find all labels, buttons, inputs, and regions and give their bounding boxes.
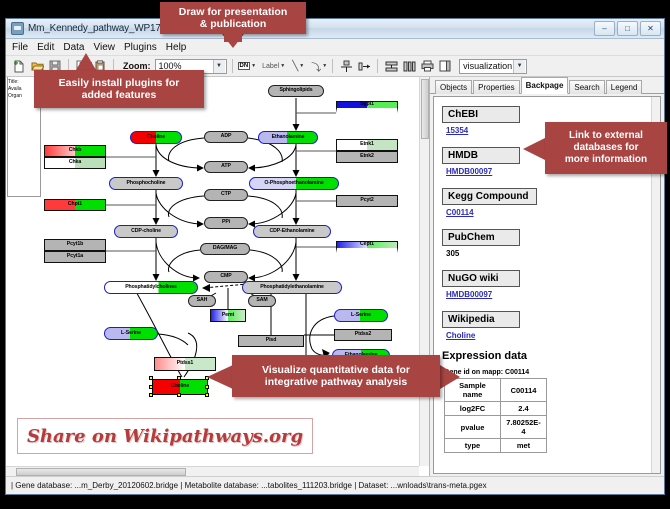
menu-file[interactable]: File: [12, 42, 28, 53]
tab-objects[interactable]: Objects: [435, 80, 472, 94]
gene-etnk1[interactable]: Etnk1: [336, 139, 398, 151]
node-sphingolipids[interactable]: Sphingolipids: [268, 85, 324, 97]
chevron-down-icon[interactable]: ▼: [513, 60, 525, 73]
scrollbar-thumb[interactable]: [421, 79, 429, 139]
callout-visualize-data: Visualize quantitative data for integrat…: [232, 355, 440, 397]
chevron-down-icon[interactable]: ▼: [280, 63, 285, 69]
node-label: ADP: [221, 134, 232, 139]
callout-external-links: Link to external databases for more info…: [545, 122, 667, 174]
node-sam[interactable]: SAM: [248, 295, 276, 307]
label-tool-text: Label: [262, 63, 279, 70]
backpage-link-kegg[interactable]: C00114: [446, 208, 660, 217]
visualization-value: visualization: [463, 61, 513, 71]
selection-handle-nw[interactable]: [149, 376, 153, 380]
callout-link-line1: Link to external: [569, 130, 643, 142]
toolbar-separator-3: [232, 59, 233, 73]
node-label: Pcyt1b: [67, 242, 83, 247]
node-phosphocholine[interactable]: Phosphocholine: [109, 177, 183, 190]
callout-draw-arrow-stem: [224, 34, 242, 42]
tab-legend[interactable]: Legend: [606, 80, 643, 94]
gene-pcyt1a[interactable]: Pcyt1a: [44, 251, 106, 263]
gene-pemt[interactable]: Pemt: [210, 309, 246, 322]
gene-ptdss2[interactable]: Ptdss2: [334, 329, 392, 341]
shape-tool[interactable]: ⤵ ▼: [311, 59, 327, 74]
backpage-value-pubchem: 305: [446, 249, 660, 258]
callout-plugins-line2: added features: [82, 89, 157, 101]
scrollbar-thumb[interactable]: [16, 468, 186, 476]
node-label: Pisd: [266, 338, 277, 343]
app-logo-icon: [11, 22, 24, 35]
node-label: Ptdss2: [355, 332, 371, 337]
gene-pisd[interactable]: Pisd: [238, 335, 304, 347]
menu-bar: File Edit Data View Plugins Help: [6, 39, 664, 56]
node-l-serine-left[interactable]: L-Serine: [104, 327, 158, 340]
new-file-icon[interactable]: [11, 58, 27, 74]
node-label: Cept1: [360, 242, 374, 247]
node-label: Choline: [147, 135, 165, 140]
callout-draw-line1: Draw for presentation: [179, 6, 288, 18]
menu-data[interactable]: Data: [63, 42, 84, 53]
table-cell-value: 7.80252E-4: [501, 416, 547, 439]
selection-handle-s[interactable]: [177, 393, 181, 397]
minimize-button[interactable]: –: [594, 21, 615, 36]
backpage-head-chebi: ChEBI: [442, 106, 520, 123]
expression-data-table: Sample name C00114 log2FC 2.4 pvalue 7.8…: [444, 378, 547, 453]
node-o-phosphoethanolamine[interactable]: O-Phosphoethanolamine: [249, 177, 339, 190]
callout-link-line2: databases for: [573, 142, 638, 154]
backpage-head-nugo: NuGO wiki: [442, 270, 520, 287]
callout-visualize-arrow-right-icon: [440, 365, 460, 389]
node-label: Choline: [171, 384, 189, 389]
node-label: Ethanolamine: [272, 135, 305, 140]
node-label: ATP: [221, 164, 231, 169]
node-label: Phosphocholine: [127, 181, 166, 186]
node-label: Pcyt2: [360, 198, 373, 203]
visualization-combo[interactable]: visualization ▼: [459, 59, 527, 74]
node-sah[interactable]: SAH: [188, 295, 216, 307]
toolbar-separator-4: [332, 59, 333, 73]
backpage-head-kegg: Kegg Compound: [442, 188, 537, 205]
chevron-down-icon[interactable]: ▼: [251, 63, 256, 69]
close-button[interactable]: ✕: [640, 21, 661, 36]
node-phosphatidylcholines[interactable]: Phosphatidylcholines: [104, 281, 198, 294]
side-panel-tabs: Objects Properties Backpage Search Legen…: [430, 77, 664, 94]
node-phosphatidylethanolamine[interactable]: Phosphatidylethanolamine: [242, 281, 342, 294]
node-label: O-Phosphoethanolamine: [264, 181, 323, 186]
callout-plugins-line1: Easily install plugins for: [59, 77, 180, 89]
node-label: CDP-choline: [131, 229, 161, 234]
line-tool[interactable]: ╲ ▼: [292, 61, 304, 72]
callout-visualize-line2: integrative pathway analysis: [265, 376, 407, 388]
callout-draw-for-publication: Draw for presentation & publication: [160, 2, 306, 34]
share-banner: Share on Wikipathways.org: [17, 418, 313, 454]
group-icon[interactable]: [356, 58, 372, 74]
node-cdp-ethanolamine[interactable]: CDP-Ethanolamine: [253, 225, 331, 238]
gene-chpt1[interactable]: Chpt1: [44, 199, 106, 211]
menu-view[interactable]: View: [93, 42, 115, 53]
align-icon[interactable]: [338, 58, 354, 74]
table-cell-value: C00114: [501, 379, 547, 402]
maximize-button[interactable]: □: [617, 21, 638, 36]
callout-draw-line2: & publication: [200, 18, 267, 30]
window-buttons: – □ ✕: [594, 21, 661, 36]
gene-pcyt1b[interactable]: Pcyt1b: [44, 239, 106, 251]
selection-handle-w[interactable]: [149, 385, 153, 389]
order-icon[interactable]: [383, 58, 399, 74]
selection-handle-n[interactable]: [177, 376, 181, 380]
line-icon: ╲: [292, 61, 298, 72]
node-label: SAH: [197, 298, 208, 303]
node-cmp[interactable]: CMP: [204, 271, 248, 283]
node-label: Etnk1: [360, 142, 374, 147]
datanode-icon: DN: [238, 62, 251, 70]
menu-help[interactable]: Help: [166, 42, 187, 53]
node-label: L-Serine: [351, 313, 371, 318]
gene-sgpl1[interactable]: Sgpl1: [336, 101, 398, 113]
backpage-head-hmdb: HMDB: [442, 147, 520, 164]
chevron-down-icon[interactable]: ▼: [322, 63, 327, 69]
table-row: log2FC 2.4: [445, 402, 547, 416]
title-bar: Mm_Kennedy_pathway_WP1771_45176.gpml – □…: [6, 19, 664, 39]
node-l-serine-right[interactable]: L-Serine: [334, 309, 388, 322]
status-text: | Gene database: ...m_Derby_20120602.bri…: [11, 481, 487, 490]
toolbar-separator-5: [377, 59, 378, 73]
callout-visualize-line1: Visualize quantitative data for: [262, 364, 410, 376]
tab-properties[interactable]: Properties: [473, 80, 519, 94]
node-label: Ptdss1: [177, 361, 193, 366]
node-label: Chpt1: [68, 202, 82, 207]
node-label: Phosphatidylcholines: [125, 285, 177, 290]
backpage-head-wikipedia: Wikipedia: [442, 311, 520, 328]
gene-id-on-mapp: Gene id on mapp: C00114: [444, 369, 660, 376]
node-label: CMP: [220, 274, 231, 279]
node-label: PPi: [222, 220, 230, 225]
print-icon[interactable]: [419, 58, 435, 74]
node-label: CDP-Ethanolamine: [269, 229, 314, 234]
menu-edit[interactable]: Edit: [37, 42, 54, 53]
canvas-vertical-scrollbar[interactable]: [419, 77, 429, 466]
share-banner-text: Share on Wikipathways.org: [27, 426, 303, 447]
table-cell-key: log2FC: [445, 402, 501, 416]
gene-cept1[interactable]: Cept1: [336, 241, 398, 253]
gene-etnk2[interactable]: Etnk2: [336, 151, 398, 163]
node-dag-mag[interactable]: DAG/MAG: [200, 243, 250, 255]
tab-backpage[interactable]: Backpage: [521, 77, 569, 94]
backpage-head-pubchem: PubChem: [442, 229, 520, 246]
node-label: Etnk2: [360, 154, 374, 159]
tab-search[interactable]: Search: [569, 80, 604, 94]
table-row: type met: [445, 439, 547, 453]
selection-handle-se[interactable]: [205, 393, 209, 397]
chevron-down-icon[interactable]: ▼: [299, 63, 304, 69]
node-ppi[interactable]: PPi: [204, 217, 248, 229]
node-label: DAG/MAG: [213, 246, 237, 251]
node-label: Sgpl1: [360, 102, 374, 107]
node-label: SAM: [256, 298, 267, 303]
node-label: Sphingolipids: [280, 88, 313, 93]
node-label: Pemt: [222, 313, 234, 318]
node-label: L-Serine: [121, 331, 141, 336]
node-label: Chka: [69, 160, 81, 165]
label-tool[interactable]: Label ▼: [262, 63, 285, 70]
datanode-tool[interactable]: DN ▼: [238, 62, 257, 70]
shape-icon: ⤵: [311, 59, 321, 74]
table-cell-value: 2.4: [501, 402, 547, 416]
canvas-horizontal-scrollbar[interactable]: [6, 466, 419, 476]
sidepanel-icon[interactable]: [437, 58, 453, 74]
table-row: pvalue 7.80252E-4: [445, 416, 547, 439]
node-adp[interactable]: ADP: [204, 131, 248, 143]
expression-data-title: Expression data: [442, 350, 660, 362]
node-label: Phosphatidylethanolamine: [260, 285, 324, 290]
status-bar: | Gene database: ...m_Derby_20120602.bri…: [6, 476, 664, 494]
node-atp[interactable]: ATP: [204, 161, 248, 173]
pathway-canvas[interactable]: Title: Availa Organ: [6, 77, 430, 476]
node-label: CTP: [221, 192, 231, 197]
callout-install-plugins: Easily install plugins for added feature…: [34, 70, 204, 108]
table-cell-key: pvalue: [445, 416, 501, 439]
gene-chka[interactable]: Chka: [44, 157, 106, 169]
node-label: Chkb: [69, 148, 82, 153]
node-cdp-choline[interactable]: CDP-choline: [114, 225, 178, 238]
node-choline-top[interactable]: Choline: [130, 131, 182, 144]
distribute-icon[interactable]: [401, 58, 417, 74]
gene-chkb[interactable]: Chkb: [44, 145, 106, 157]
menu-plugins[interactable]: Plugins: [124, 42, 157, 53]
callout-link-line3: more information: [565, 154, 647, 166]
node-label: Pcyt1a: [67, 254, 83, 259]
table-cell-value: met: [501, 439, 547, 453]
screenshot-root: Draw for presentation & publication Mm_K…: [0, 0, 670, 509]
node-ethanolamine-top[interactable]: Ethanolamine: [258, 131, 318, 144]
gene-pcyt2[interactable]: Pcyt2: [336, 195, 398, 207]
backpage-link-wikipedia[interactable]: Choline: [446, 331, 660, 340]
node-ctp[interactable]: CTP: [204, 189, 248, 201]
selection-handle-sw[interactable]: [149, 393, 153, 397]
backpage-link-nugo[interactable]: HMDB00097: [446, 290, 660, 299]
chevron-down-icon[interactable]: ▼: [213, 60, 225, 73]
table-cell-key: type: [445, 439, 501, 453]
